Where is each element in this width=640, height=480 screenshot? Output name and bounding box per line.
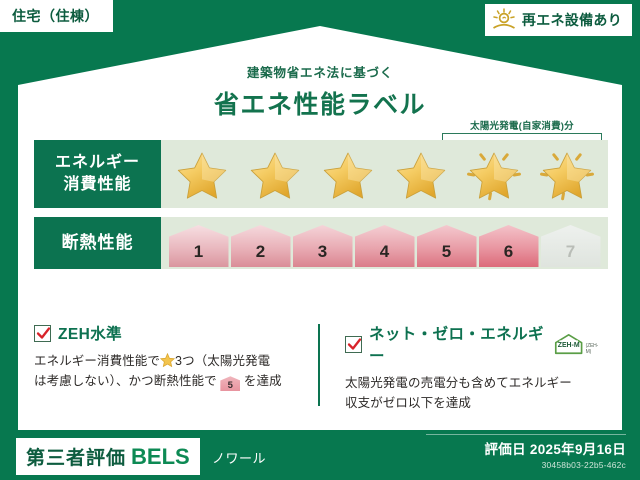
- star-strip: [161, 146, 608, 206]
- star-solar: [532, 146, 602, 204]
- criterion-nze-body: 太陽光発電の売電分も含めてエネルギー収支がゼロ以下を達成: [345, 373, 602, 414]
- criterion-zeh-text-2: 3つ（太陽光発電: [175, 354, 270, 368]
- energy-performance-label: 住宅（住棟） 再エネ設備あり 建築物省エネ法に基づく 省エネ性能ラベル: [0, 0, 640, 480]
- bels-jp-label: 第三者評価: [26, 443, 126, 470]
- evaluation-date: 評価日 2025年9月16日: [484, 438, 626, 458]
- evaluation-info: 評価日 2025年9月16日 30458b03-22b5-462c: [484, 438, 626, 470]
- insulation-chip-value: 5: [442, 242, 451, 262]
- energy-performance-row: エネルギー 消費性能 太陽光発電(自家消費)分: [34, 140, 608, 208]
- criterion-zeh-text-1: エネルギー消費性能で: [34, 354, 160, 368]
- star-filled: [240, 146, 310, 204]
- insulation-chip-active: 2: [231, 225, 291, 267]
- star-filled: [386, 146, 456, 204]
- energy-label-line1: エネルギー: [55, 152, 140, 174]
- insulation-chip-value: 6: [504, 242, 513, 262]
- title-subtitle: 建築物省エネ法に基づく: [0, 62, 640, 81]
- label-footer: 第三者評価 BELS ノワール 評価日 2025年9月16日 30458b03-…: [0, 432, 640, 480]
- footer-rule: [426, 434, 626, 435]
- criterion-nze-line2: 収支がゼロ以下を達成: [345, 396, 471, 410]
- energy-performance-label-box: エネルギー 消費性能: [34, 140, 161, 208]
- insulation-chip-value: 2: [256, 242, 265, 262]
- building-type-tag: 住宅（住棟）: [0, 0, 113, 32]
- insulation-level-scale: 1234567: [161, 217, 608, 269]
- criterion-zeh-title: ZEH水準: [58, 322, 122, 344]
- criterion-nze-header: ネット・ゼロ・エネルギー ZEH-M (ZEH-M): [345, 322, 602, 366]
- criterion-nze-line1: 太陽光発電の売電分も含めてエネルギー: [345, 376, 572, 390]
- criteria-section: ZEH水準 エネルギー消費性能で3つ（太陽光発電は考慮しない）、かつ断熱性能で …: [34, 322, 612, 414]
- insulation-chip-active: 1: [169, 225, 229, 267]
- svg-text:ZEH-M: ZEH-M: [558, 341, 580, 348]
- solar-annotation-label: 太陽光発電(自家消費)分: [442, 118, 602, 132]
- renewable-badge-label: 再エネ設備あり: [522, 10, 622, 30]
- metrics-section: エネルギー 消費性能 太陽光発電(自家消費)分: [34, 140, 608, 278]
- criterion-zeh-text-4: を達成: [244, 374, 282, 388]
- renewable-equipment-badge: 再エネ設備あり: [485, 4, 632, 36]
- zeh-m-house-logo: ZEH-M (ZEH-M): [553, 332, 602, 357]
- insulation-chip-value: 4: [380, 242, 389, 262]
- insulation-performance-label-box: 断熱性能: [34, 217, 161, 269]
- bels-en-label: BELS: [131, 444, 190, 470]
- solar-generation-annotation: 太陽光発電(自家消費)分: [442, 118, 602, 140]
- criterion-zeh-standard: ZEH水準 エネルギー消費性能で3つ（太陽光発電は考慮しない）、かつ断熱性能で …: [34, 322, 323, 414]
- insulation-chip-value: 7: [566, 242, 575, 262]
- insulation-chip-inactive: 7: [541, 225, 601, 267]
- zeh-m-logo-subscript: (ZEH-M): [586, 343, 602, 357]
- insulation-chip-value: 1: [194, 242, 203, 262]
- bels-certification-box: 第三者評価 BELS: [16, 438, 200, 475]
- inline-insulation-chip: 5: [220, 376, 240, 391]
- criterion-zeh-body: エネルギー消費性能で3つ（太陽光発電は考慮しない）、かつ断熱性能で 5 を達成: [34, 351, 313, 392]
- criterion-nze-title: ネット・ゼロ・エネルギー: [369, 322, 545, 366]
- energy-star-rating: 太陽光発電(自家消費)分: [161, 140, 608, 208]
- star-solar: [459, 146, 529, 204]
- criterion-net-zero-energy: ネット・ゼロ・エネルギー ZEH-M (ZEH-M) 太陽光発電の売電分も含めて…: [323, 322, 612, 414]
- evaluation-id: 30458b03-22b5-462c: [484, 460, 626, 470]
- sun-solar-icon: [491, 8, 517, 32]
- insulation-chip-active: 3: [293, 225, 353, 267]
- brand-name: ノワール: [212, 448, 266, 467]
- criterion-zeh-header: ZEH水準: [34, 322, 313, 344]
- inline-star-icon: [160, 353, 175, 367]
- insulation-label-text: 断熱性能: [62, 232, 134, 255]
- insulation-chip-active: 6: [479, 225, 539, 267]
- checkbox-zeh-standard[interactable]: [34, 325, 51, 342]
- insulation-chip-active: 4: [355, 225, 415, 267]
- energy-label-line2: 消費性能: [63, 174, 131, 196]
- solar-annotation-bracket: [442, 133, 602, 140]
- criterion-zeh-text-3: は考慮しない）、かつ断熱性能で: [34, 374, 217, 388]
- checkbox-net-zero-energy[interactable]: [345, 336, 362, 353]
- star-filled: [313, 146, 383, 204]
- insulation-performance-row: 断熱性能 1234567: [34, 217, 608, 269]
- insulation-chip-value: 3: [318, 242, 327, 262]
- insulation-chip-active: 5: [417, 225, 477, 267]
- title-main: 省エネ性能ラベル: [0, 85, 640, 121]
- star-filled: [167, 146, 237, 204]
- label-title-block: 建築物省エネ法に基づく 省エネ性能ラベル: [0, 62, 640, 121]
- insulation-chip-strip: 1234567: [161, 225, 608, 267]
